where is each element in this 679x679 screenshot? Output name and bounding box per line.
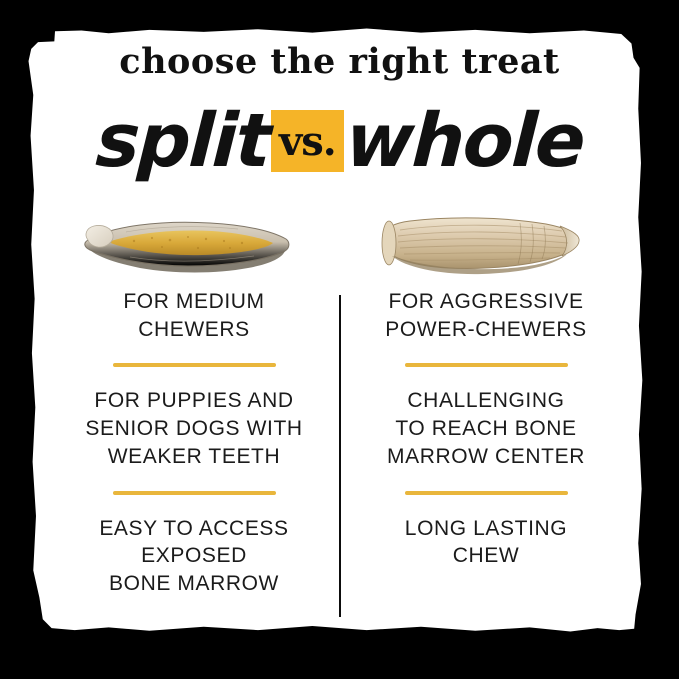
title-word-whole: whole	[344, 104, 585, 178]
column-split: FOR MEDIUM CHEWERS FOR PUPPIES AND SENIO…	[60, 288, 328, 598]
column-whole: FOR AGGRESSIVE POWER-CHEWERS CHALLENGING…	[352, 288, 620, 570]
column-divider	[339, 295, 341, 617]
infographic-poster: choose the right treat split vs. whole	[0, 0, 679, 679]
page-title: split vs. whole	[0, 104, 679, 178]
fact-text: EASY TO ACCESS EXPOSED BONE MARROW	[60, 515, 328, 598]
fact-divider	[113, 491, 276, 495]
fact-text: CHALLENGING TO REACH BONE MARROW CENTER	[352, 387, 620, 470]
title-word-split: split	[94, 104, 271, 178]
fact-text: FOR AGGRESSIVE POWER-CHEWERS	[352, 288, 620, 343]
fact-text: LONG LASTING CHEW	[352, 515, 620, 570]
fact-text: FOR MEDIUM CHEWERS	[60, 288, 328, 343]
fact-text: FOR PUPPIES AND SENIOR DOGS WITH WEAKER …	[60, 387, 328, 470]
page-kicker: choose the right treat	[0, 41, 679, 82]
fact-divider	[113, 363, 276, 367]
title-vs-badge: vs.	[271, 110, 344, 172]
split-antler-icon	[70, 206, 310, 284]
whole-antler-icon	[370, 206, 610, 284]
fact-divider	[405, 491, 568, 495]
fact-divider	[405, 363, 568, 367]
